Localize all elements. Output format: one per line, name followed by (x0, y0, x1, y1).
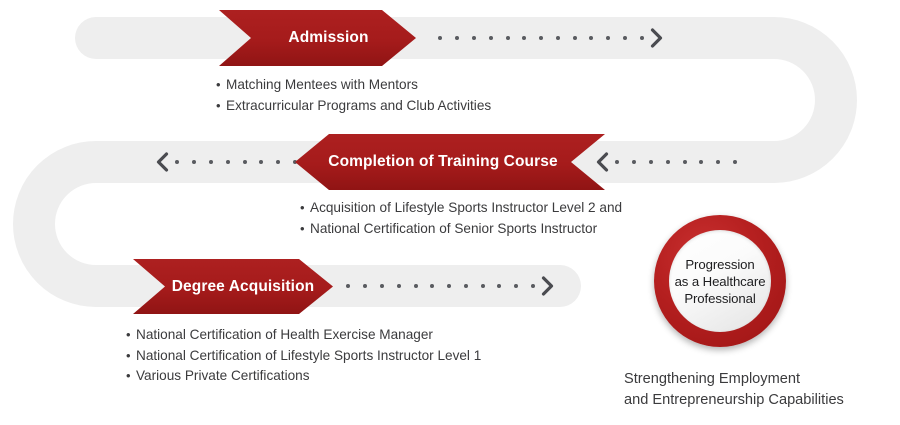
caption-line-1: Strengthening Employment (624, 369, 844, 390)
outcome-caption: Strengthening Employment and Entrepreneu… (624, 369, 844, 410)
markers-row-2-left (156, 151, 303, 173)
list-item-text: National Certification of Health Exercis… (136, 325, 433, 346)
step-banner-admission[interactable]: Admission (219, 10, 416, 66)
outcome-circle-inner: Progression as a Healthcare Professional (669, 230, 771, 332)
outcome-circle: Progression as a Healthcare Professional (654, 215, 786, 347)
dot-marker (259, 160, 263, 164)
dot-marker (640, 36, 644, 40)
dot-marker (506, 36, 510, 40)
markers-row-3 (340, 275, 554, 297)
list-item-text: Various Private Certifications (136, 366, 310, 387)
flow-diagram: Admission • Matching Mentees with Mentor… (0, 0, 900, 425)
list-item: • Various Private Certifications (126, 366, 481, 387)
outcome-circle-label: Progression as a Healthcare Professional (675, 256, 766, 307)
dot-marker (615, 160, 619, 164)
dot-marker (589, 36, 593, 40)
dot-marker (514, 284, 518, 288)
list-item: • National Certification of Health Exerc… (126, 325, 481, 346)
dot-marker (623, 36, 627, 40)
dot-marker (522, 36, 526, 40)
step-banner-degree-acquisition[interactable]: Degree Acquisition (133, 259, 333, 314)
dot-marker (430, 284, 434, 288)
list-item-text: National Certification of Senior Sports … (310, 219, 597, 240)
markers-row-1 (432, 27, 663, 49)
list-item-text: Matching Mentees with Mentors (226, 75, 418, 96)
bullet-glyph: • (216, 96, 226, 117)
dot-marker (497, 284, 501, 288)
dot-marker (175, 160, 179, 164)
dot-marker (397, 284, 401, 288)
step-banner-label: Degree Acquisition (152, 278, 314, 296)
chevron-left-icon (156, 152, 169, 172)
dot-marker (699, 160, 703, 164)
chevron-right-icon (650, 28, 663, 48)
dot-marker (414, 284, 418, 288)
list-item-text: National Certification of Lifestyle Spor… (136, 346, 481, 367)
dot-marker (531, 284, 535, 288)
list-item-text: Extracurricular Programs and Club Activi… (226, 96, 491, 117)
dot-marker (276, 160, 280, 164)
dot-marker (363, 284, 367, 288)
caption-line-2: and Entrepreneurship Capabilities (624, 390, 844, 411)
dot-marker (481, 284, 485, 288)
dot-marker (716, 160, 720, 164)
dot-marker (243, 160, 247, 164)
dot-marker (455, 36, 459, 40)
chevron-right-icon (541, 276, 554, 296)
bullet-glyph: • (300, 198, 310, 219)
dot-marker (447, 284, 451, 288)
list-item: • Acquisition of Lifestyle Sports Instru… (300, 198, 622, 219)
step-banner-completion-of-training-course[interactable]: Completion of Training Course (295, 134, 605, 190)
dot-marker (472, 36, 476, 40)
bullet-glyph: • (126, 325, 136, 346)
list-item: • National Certification of Senior Sport… (300, 219, 622, 240)
dot-marker (539, 36, 543, 40)
dot-marker (192, 160, 196, 164)
list-item: • Matching Mentees with Mentors (216, 75, 491, 96)
bullet-glyph: • (126, 346, 136, 367)
dot-marker (556, 36, 560, 40)
dot-marker (649, 160, 653, 164)
markers-row-2-right (596, 151, 743, 173)
dot-marker (346, 284, 350, 288)
outcome-line-2: as a Healthcare (675, 273, 766, 290)
dot-marker (226, 160, 230, 164)
dot-marker (489, 36, 493, 40)
dot-marker (632, 160, 636, 164)
dot-marker (464, 284, 468, 288)
step-banner-label: Admission (266, 29, 368, 47)
dot-marker (438, 36, 442, 40)
bullet-glyph: • (126, 366, 136, 387)
dot-marker (380, 284, 384, 288)
outcome-line-3: Professional (675, 290, 766, 307)
bullets-degree-acquisition: • National Certification of Health Exerc… (126, 325, 481, 387)
step-banner-label: Completion of Training Course (328, 153, 571, 171)
list-item: • Extracurricular Programs and Club Acti… (216, 96, 491, 117)
list-item-text: Acquisition of Lifestyle Sports Instruct… (310, 198, 622, 219)
dot-marker (683, 160, 687, 164)
bullet-glyph: • (216, 75, 226, 96)
dot-marker (209, 160, 213, 164)
outcome-line-1: Progression (675, 256, 766, 273)
bullet-glyph: • (300, 219, 310, 240)
dot-marker (573, 36, 577, 40)
dot-marker (606, 36, 610, 40)
dot-marker (666, 160, 670, 164)
bullets-completion-of-training-course: • Acquisition of Lifestyle Sports Instru… (300, 198, 622, 239)
bullets-admission: • Matching Mentees with Mentors • Extrac… (216, 75, 491, 116)
dot-marker (733, 160, 737, 164)
list-item: • National Certification of Lifestyle Sp… (126, 346, 481, 367)
